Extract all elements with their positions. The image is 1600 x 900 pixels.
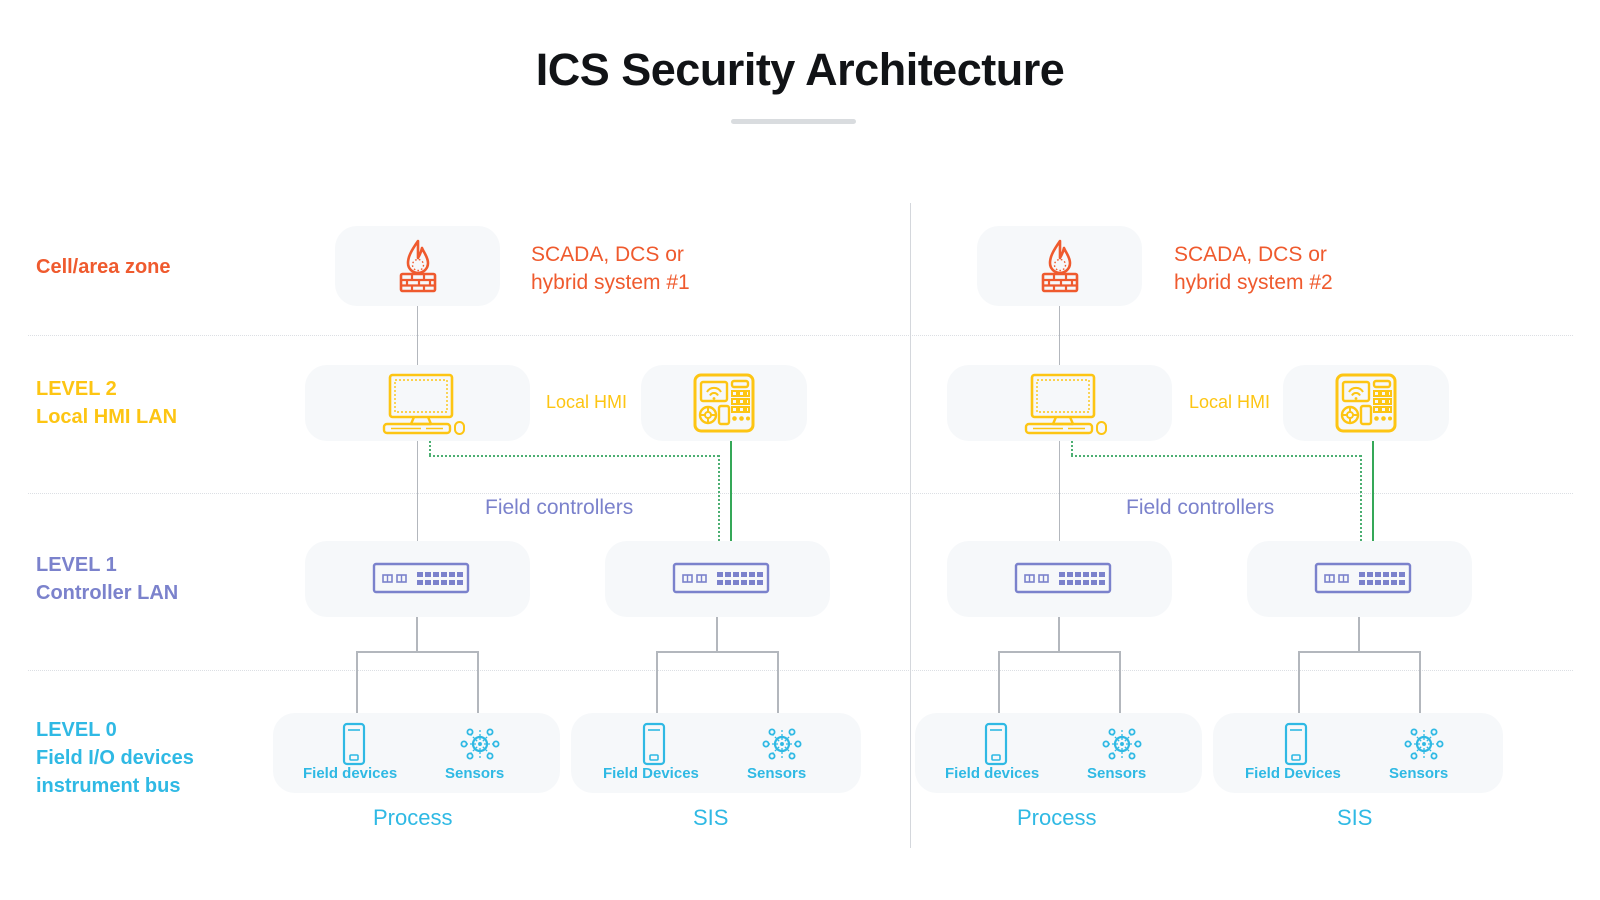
device-label: Field Devices [1245,765,1341,782]
zone-label-process-system-2: Process [1017,805,1096,831]
device-label: Sensors [445,765,504,782]
field-controllers-label-system-1: Field controllers [485,496,633,520]
hmi-computer-card-system-2[interactable] [947,365,1172,441]
tree-branch-right-process-system-2 [1119,651,1121,717]
hmi-computer-card-system-1[interactable] [305,365,530,441]
firewall-icon [1033,238,1087,294]
device-card-process-system-2[interactable]: Field devices Sensors [915,713,1202,793]
tree-branch-left-sis-system-1 [656,651,658,717]
hmi-panel-card-system-1[interactable] [641,365,807,441]
level-label-level-2: LEVEL 2 Local HMI LAN [36,375,177,431]
device-label: Field devices [303,765,397,782]
sensor-icon [1401,722,1447,766]
tree-bar-sis-system-2 [1298,651,1420,653]
link-hmi-to-sis-vert-a-system-1 [429,441,431,455]
field-controllers-label-system-2: Field controllers [1126,496,1274,520]
tree-stem-process-system-2 [1058,617,1060,652]
local-hmi-label-system-1: Local HMI [546,392,627,413]
network-switch-icon [1015,563,1111,593]
systems-divider [910,203,911,848]
switch-card-process-system-2[interactable] [947,541,1172,617]
link-hmi-to-sis-horiz-system-2 [1071,455,1361,457]
field-device-icon [641,723,667,765]
link-hmi-to-switch-process-system-2 [1059,441,1060,545]
tree-branch-left-sis-system-2 [1298,651,1300,717]
device-label: Field Devices [603,765,699,782]
sensor-icon [1099,722,1145,766]
firewall-card-system-1[interactable] [335,226,500,306]
desktop-computer-icon [381,372,467,434]
hmi-panel-card-system-2[interactable] [1283,365,1449,441]
desktop-computer-icon [1023,372,1109,434]
device-label: Sensors [1389,765,1448,782]
device-card-process-system-1[interactable]: Field devices Sensors [273,713,560,793]
field-device-icon [983,723,1009,765]
device-card-sis-system-2[interactable]: Field Devices Sensors [1213,713,1503,793]
network-switch-icon [373,563,469,593]
link-hmi-to-sis-horiz-system-1 [429,455,719,457]
tree-branch-left-process-system-1 [356,651,358,717]
tree-branch-right-process-system-1 [477,651,479,717]
level-label-level-1: LEVEL 1 Controller LAN [36,551,178,607]
sensor-icon [759,722,805,766]
hmi-panel-icon [693,373,755,433]
scada-label-system-1: SCADA, DCS or hybrid system #1 [531,241,690,297]
device-label: Sensors [747,765,806,782]
tree-stem-sis-system-1 [716,617,718,652]
tree-branch-right-sis-system-2 [1419,651,1421,717]
zone-label-sis-system-1: SIS [693,805,728,831]
network-switch-icon [673,563,769,593]
switch-card-sis-system-2[interactable] [1247,541,1472,617]
network-switch-icon [1315,563,1411,593]
zone-label-process-system-1: Process [373,805,452,831]
tree-stem-process-system-1 [416,617,418,652]
switch-card-sis-system-1[interactable] [605,541,830,617]
tree-bar-process-system-2 [998,651,1120,653]
scada-label-system-2: SCADA, DCS or hybrid system #2 [1174,241,1333,297]
link-hmi-to-sis-vert-a-system-2 [1071,441,1073,455]
level-label-cell-area-zone: Cell/area zone [36,253,171,281]
link-panel-to-sis-switch-system-2 [1372,441,1374,545]
level-label-level-0: LEVEL 0 Field I/O devices instrument bus [36,716,194,800]
title-divider [731,119,856,124]
zone-label-sis-system-2: SIS [1337,805,1372,831]
tree-branch-left-process-system-2 [998,651,1000,717]
device-label: Field devices [945,765,1039,782]
device-card-sis-system-1[interactable]: Field Devices Sensors [571,713,861,793]
sensor-icon [457,722,503,766]
tree-stem-sis-system-2 [1358,617,1360,652]
row-separator-3 [28,670,1573,671]
firewall-icon [391,238,445,294]
firewall-card-system-2[interactable] [977,226,1142,306]
row-separator-1 [28,335,1573,336]
field-device-icon [1283,723,1309,765]
page-title: ICS Security Architecture [0,44,1600,96]
field-device-icon [341,723,367,765]
switch-card-process-system-1[interactable] [305,541,530,617]
diagram-canvas: ICS Security Architecture Cell/area zone… [0,0,1600,900]
link-hmi-to-switch-process-system-1 [417,441,418,545]
link-firewall-to-hmi-system-2 [1059,306,1060,372]
row-separator-2 [28,493,1573,494]
tree-bar-process-system-1 [356,651,478,653]
hmi-panel-icon [1335,373,1397,433]
link-firewall-to-hmi-system-1 [417,306,418,372]
tree-branch-right-sis-system-1 [777,651,779,717]
device-label: Sensors [1087,765,1146,782]
tree-bar-sis-system-1 [656,651,778,653]
local-hmi-label-system-2: Local HMI [1189,392,1270,413]
link-panel-to-sis-switch-system-1 [730,441,732,545]
